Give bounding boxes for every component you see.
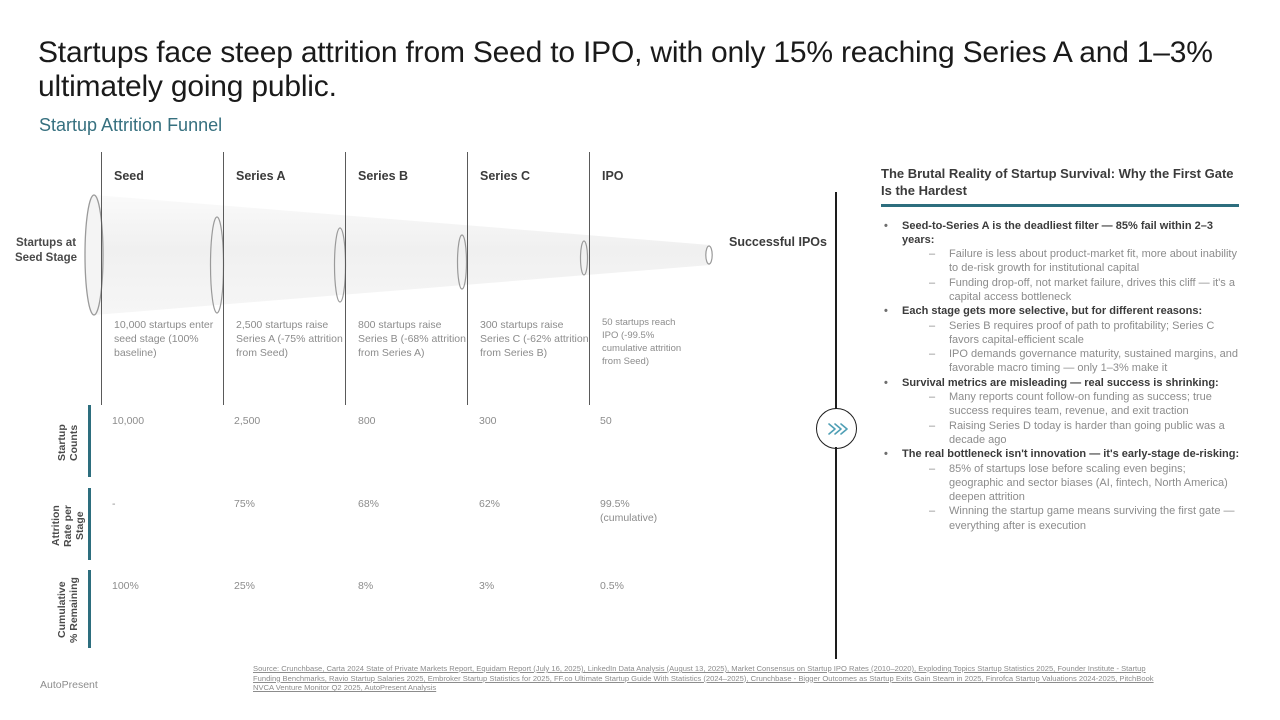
metric-value: 100% (112, 580, 217, 594)
bullet-item: • Each stage gets more selective, but fo… (881, 304, 1241, 318)
metric-label: Attrition Rate per Stage (50, 490, 86, 562)
panel-separator-upper (835, 192, 837, 412)
bullet-dot-icon: • (884, 447, 888, 461)
metric-row-attrition-rate: Attrition Rate per Stage - 75% 68% 62% 9… (0, 488, 820, 566)
bullet-item: • Seed-to-Series A is the deadliest filt… (881, 219, 1241, 248)
panel-separator-lower (835, 447, 837, 659)
metric-value: 10,000 (112, 415, 217, 429)
sub-bullet-text: Many reports count follow-on funding as … (949, 391, 1212, 417)
metric-value: 75% (234, 498, 339, 512)
funnel-output-label: Successful IPOs (729, 235, 827, 250)
sub-bullet-item: – Many reports count follow-on funding a… (881, 390, 1241, 419)
stage-label-seed: Seed (114, 169, 144, 183)
sub-bullet-dash-icon: – (929, 419, 935, 433)
stage-divider-2 (345, 152, 346, 405)
sub-bullet-dash-icon: – (929, 347, 935, 361)
sub-bullet-item: – Series B requires proof of path to pro… (881, 319, 1241, 348)
sub-bullet-dash-icon: – (929, 319, 935, 333)
metric-accent-bar (88, 570, 91, 648)
stage-label-series-b: Series B (358, 169, 408, 183)
sub-bullet-text: IPO demands governance maturity, sustain… (949, 348, 1238, 374)
bullet-text: Survival metrics are misleading — real s… (902, 377, 1219, 389)
bullet-dot-icon: • (884, 376, 888, 390)
metric-accent-bar (88, 488, 91, 560)
sub-bullet-text: Failure is less about product-market fit… (949, 248, 1237, 274)
stage-label-ipo: IPO (602, 169, 624, 183)
stage-label-series-c: Series C (480, 169, 530, 183)
metric-value: 68% (358, 498, 463, 512)
metric-accent-bar (88, 405, 91, 477)
metric-label: Startup Counts (56, 409, 80, 477)
metric-value: 0.5% (600, 580, 705, 594)
sub-bullet-item: – Raising Series D today is harder than … (881, 419, 1241, 448)
metric-value: 99.5% (cumulative) (600, 498, 680, 525)
sub-bullet-text: Series B requires proof of path to profi… (949, 320, 1214, 346)
metric-label: Cumulative % Remaining (56, 572, 80, 648)
bullet-dot-icon: • (884, 304, 888, 318)
bullet-text: Each stage gets more selective, but for … (902, 305, 1202, 317)
sub-bullet-item: – Winning the startup game means survivi… (881, 504, 1241, 533)
sub-bullet-item: – Funding drop-off, not market failure, … (881, 276, 1241, 305)
metric-value: 3% (479, 580, 584, 594)
stage-divider-1 (223, 152, 224, 405)
metric-value: 2,500 (234, 415, 339, 429)
stage-divider-0 (101, 152, 102, 405)
metric-row-startup-counts: Startup Counts 10,000 2,500 800 300 50 (0, 405, 820, 483)
stage-desc-seed: 10,000 startups enter seed stage (100% b… (114, 318, 226, 361)
bullet-item: • Survival metrics are misleading — real… (881, 376, 1241, 390)
funnel-chart: Startups at Seed Stage (0, 152, 860, 412)
bullet-dot-icon: • (884, 219, 888, 233)
triple-chevron-icon (826, 422, 848, 436)
insight-panel-rule (881, 204, 1239, 207)
sub-bullet-text: 85% of startups lose before scaling even… (949, 463, 1228, 504)
metric-value: 800 (358, 415, 463, 429)
sub-bullet-text: Funding drop-off, not market failure, dr… (949, 277, 1235, 303)
brand-label: AutoPresent (40, 679, 98, 691)
sub-bullet-text: Winning the startup game means surviving… (949, 505, 1235, 531)
bullet-text: Seed-to-Series A is the deadliest filter… (902, 220, 1213, 246)
insight-panel-title: The Brutal Reality of Startup Survival: … (881, 165, 1241, 199)
stage-desc-series-a: 2,500 startups raise Series A (-75% attr… (236, 318, 348, 361)
source-citation: Source: Crunchbase, Carta 2024 State of … (253, 664, 1158, 693)
stage-divider-4 (589, 152, 590, 405)
sub-bullet-dash-icon: – (929, 247, 935, 261)
page-subtitle: Startup Attrition Funnel (39, 115, 222, 136)
metric-row-cumulative-remaining: Cumulative % Remaining 100% 25% 8% 3% 0.… (0, 570, 820, 650)
stage-label-series-a: Series A (236, 169, 286, 183)
chevron-right-icon (816, 408, 857, 449)
sub-bullet-dash-icon: – (929, 504, 935, 518)
sub-bullet-dash-icon: – (929, 390, 935, 404)
metric-value: 300 (479, 415, 584, 429)
sub-bullet-text: Raising Series D today is harder than go… (949, 420, 1225, 446)
metric-value: 50 (600, 415, 705, 429)
metric-value: 62% (479, 498, 584, 512)
bullet-text: The real bottleneck isn't innovation — i… (902, 448, 1239, 460)
sub-bullet-dash-icon: – (929, 276, 935, 290)
insight-bullet-list: • Seed-to-Series A is the deadliest filt… (881, 219, 1241, 534)
stage-desc-series-c: 300 startups raise Series C (-62% attrit… (480, 318, 592, 361)
sub-bullet-item: – 85% of startups lose before scaling ev… (881, 462, 1241, 505)
page-title: Startups face steep attrition from Seed … (38, 36, 1218, 104)
slide-canvas: Startups face steep attrition from Seed … (0, 0, 1280, 720)
sub-bullet-dash-icon: – (929, 462, 935, 476)
sub-bullet-item: – IPO demands governance maturity, susta… (881, 347, 1241, 376)
funnel-cone-graphic (0, 152, 860, 412)
stage-desc-ipo: 50 startups reach IPO (-99.5% cumulative… (602, 316, 692, 368)
sub-bullet-item: – Failure is less about product-market f… (881, 247, 1241, 276)
metric-value: - (112, 498, 217, 512)
metric-value: 8% (358, 580, 463, 594)
metric-value: 25% (234, 580, 339, 594)
stage-divider-3 (467, 152, 468, 405)
stage-desc-series-b: 800 startups raise Series B (-68% attrit… (358, 318, 470, 361)
source-citation-text[interactable]: Source: Crunchbase, Carta 2024 State of … (253, 664, 1154, 692)
insight-panel: The Brutal Reality of Startup Survival: … (881, 165, 1241, 533)
bullet-item: • The real bottleneck isn't innovation —… (881, 447, 1241, 461)
